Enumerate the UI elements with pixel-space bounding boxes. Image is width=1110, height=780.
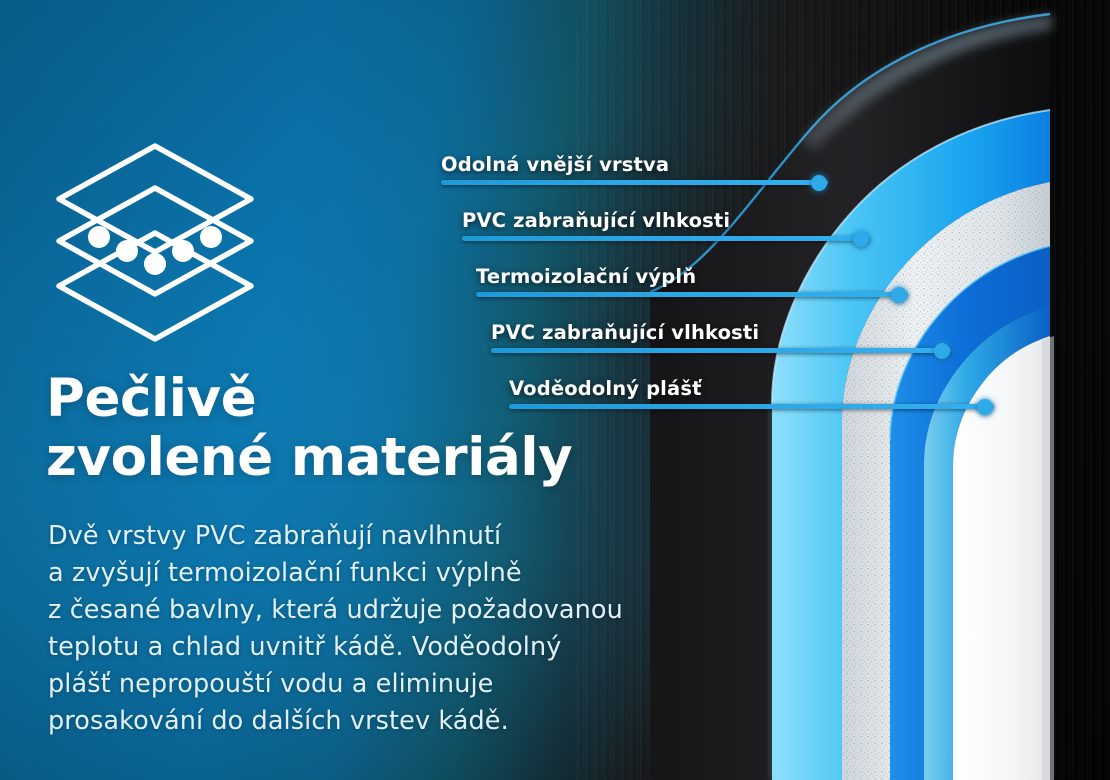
description-paragraph: Dvě vrstvy PVC zabraňují navlhnutí a zvy… xyxy=(48,518,688,741)
description-line: plášť nepropouští vodu a eliminuje xyxy=(48,666,688,703)
product-cross-section-illustration xyxy=(650,0,1110,780)
description-line: teplotu a chlad uvnitř kádě. Voděodolný xyxy=(48,629,688,666)
description-line: Dvě vrstvy PVC zabraňují navlhnutí xyxy=(48,518,688,555)
page-title: Pečlivě zvolené materiály xyxy=(46,370,646,488)
description-line: a zvyšují termoizolační funkci výplně xyxy=(48,555,688,592)
description-line: z česané bavlny, která udržuje požadovan… xyxy=(48,592,688,629)
infographic-canvas: Odolná vnější vrstva PVC zabraňující vlh… xyxy=(0,0,1110,780)
layers-stack-icon xyxy=(48,138,263,343)
headline-line-1: Pečlivě xyxy=(46,368,256,429)
headline-line-2: zvolené materiály xyxy=(46,429,646,488)
description-line: prosakování do dalších vrstev kádě. xyxy=(48,703,688,740)
